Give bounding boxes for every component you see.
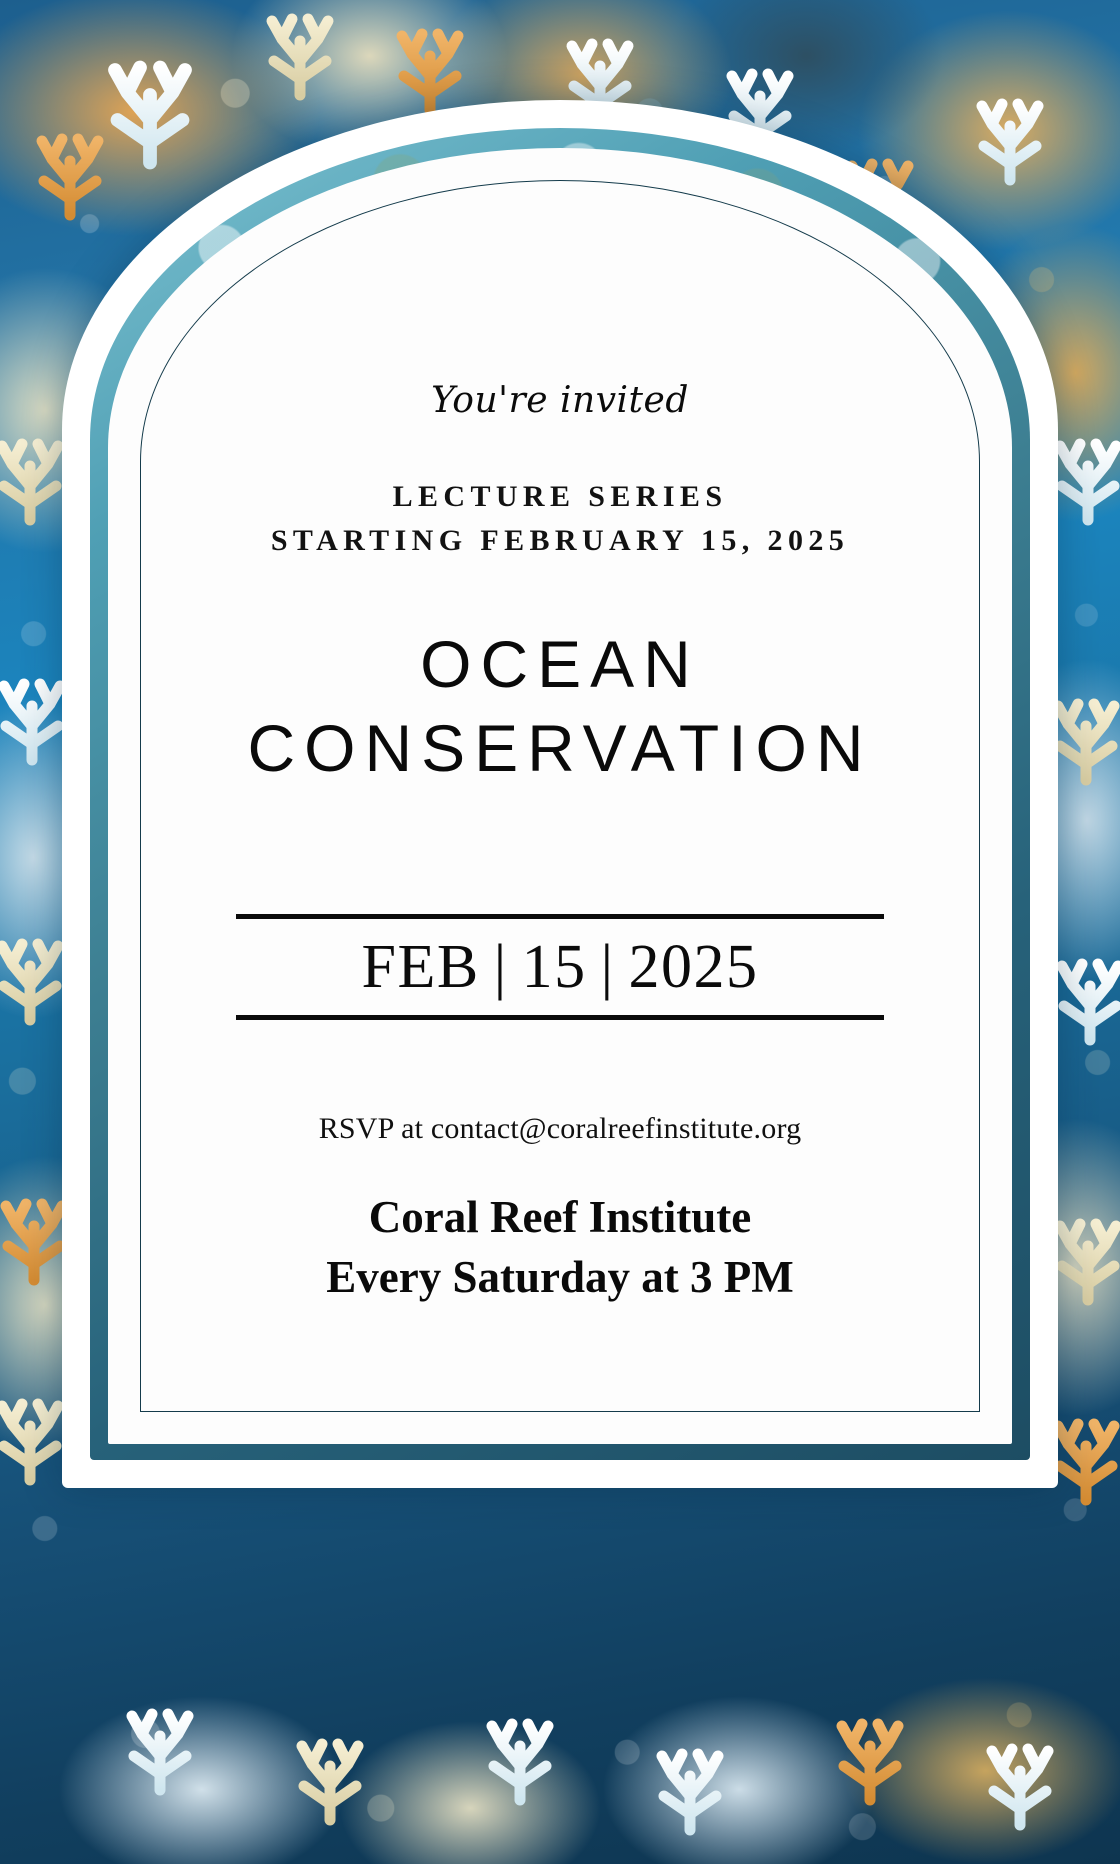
event-subtitle-line-2: STARTING FEBRUARY 15, 2025: [142, 519, 978, 563]
event-schedule: Every Saturday at 3 PM: [142, 1247, 978, 1307]
event-title-line-1: OCEAN: [142, 622, 978, 706]
date-year: 2025: [629, 933, 759, 1001]
organization-name: Coral Reef Institute: [142, 1187, 978, 1247]
event-date-line: FEB|15|2025: [236, 919, 884, 1015]
event-title-block: OCEAN CONSERVATION: [142, 622, 978, 790]
event-title-line-2: CONSERVATION: [142, 706, 978, 790]
event-footer-block: Coral Reef Institute Every Saturday at 3…: [142, 1187, 978, 1307]
event-subtitle-line-1: LECTURE SERIES: [142, 475, 978, 519]
rsvp-line: RSVP at contact@coralreefinstitute.org: [142, 1112, 978, 1146]
event-subtitle-block: LECTURE SERIES STARTING FEBRUARY 15, 202…: [142, 475, 978, 563]
date-separator-1: |: [480, 933, 522, 1001]
invitation-poster: You're invited LECTURE SERIES STARTING F…: [0, 0, 1120, 1864]
date-separator-2: |: [587, 933, 629, 1001]
event-date-block: FEB|15|2025: [236, 914, 884, 1020]
date-rule-bottom: [236, 1015, 884, 1020]
date-month: FEB: [361, 933, 479, 1001]
invitation-content: You're invited LECTURE SERIES STARTING F…: [142, 182, 978, 1410]
date-day: 15: [522, 933, 587, 1001]
invitation-kicker: You're invited: [142, 380, 978, 421]
